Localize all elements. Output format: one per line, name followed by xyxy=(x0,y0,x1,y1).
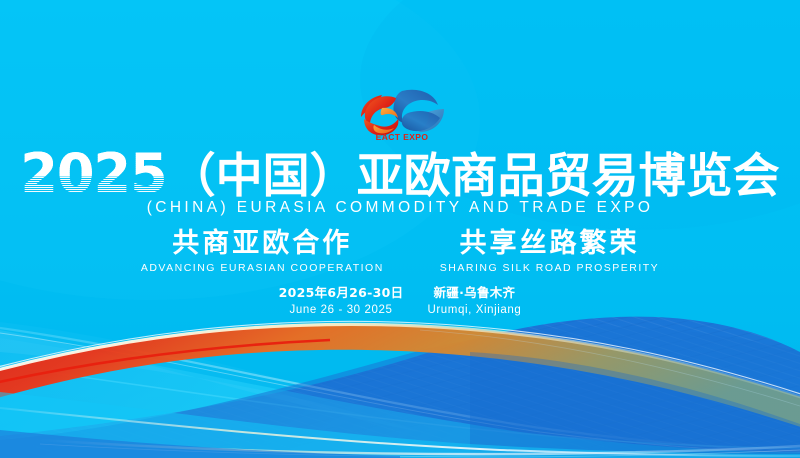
event-venue-english: Urumqi, Xinjiang xyxy=(427,303,521,318)
event-date-chinese: 2025年6月26-30日 xyxy=(279,285,404,301)
title-chinese: （中国）亚欧商品贸易博览会 xyxy=(169,153,780,200)
slogan-2-english: SHARING SILK ROAD PROSPERITY xyxy=(440,262,659,274)
title-year: 2025 xyxy=(20,148,166,200)
slogan-row: 共商亚欧合作 ADVANCING EURASIAN COOPERATION 共享… xyxy=(0,229,800,274)
event-date-english: June 26 - 30 2025 xyxy=(290,303,393,318)
main-title-row: 2025 （中国）亚欧商品贸易博览会 xyxy=(0,148,800,200)
expo-banner: EACT EXPO 2025 （中国）亚欧商品贸易博览会 (CHINA) EUR… xyxy=(0,0,800,458)
event-venue-chinese: 新疆·乌鲁木齐 xyxy=(434,285,516,301)
event-meta: 2025年6月26-30日 June 26 - 30 2025 新疆·乌鲁木齐 … xyxy=(0,285,800,318)
slogan-1-chinese: 共商亚欧合作 xyxy=(172,229,352,259)
slogan-2-chinese: 共享丝路繁荣 xyxy=(459,229,639,259)
event-venue: 新疆·乌鲁木齐 Urumqi, Xinjiang xyxy=(427,285,521,318)
slogan-1-english: ADVANCING EURASIAN COOPERATION xyxy=(141,262,384,274)
title-english: (CHINA) EURASIA COMMODITY AND TRADE EXPO xyxy=(0,199,800,217)
slogan-2: 共享丝路繁荣 SHARING SILK ROAD PROSPERITY xyxy=(440,229,659,274)
event-date: 2025年6月26-30日 June 26 - 30 2025 xyxy=(279,285,404,318)
slogan-1: 共商亚欧合作 ADVANCING EURASIAN COOPERATION xyxy=(141,229,384,274)
